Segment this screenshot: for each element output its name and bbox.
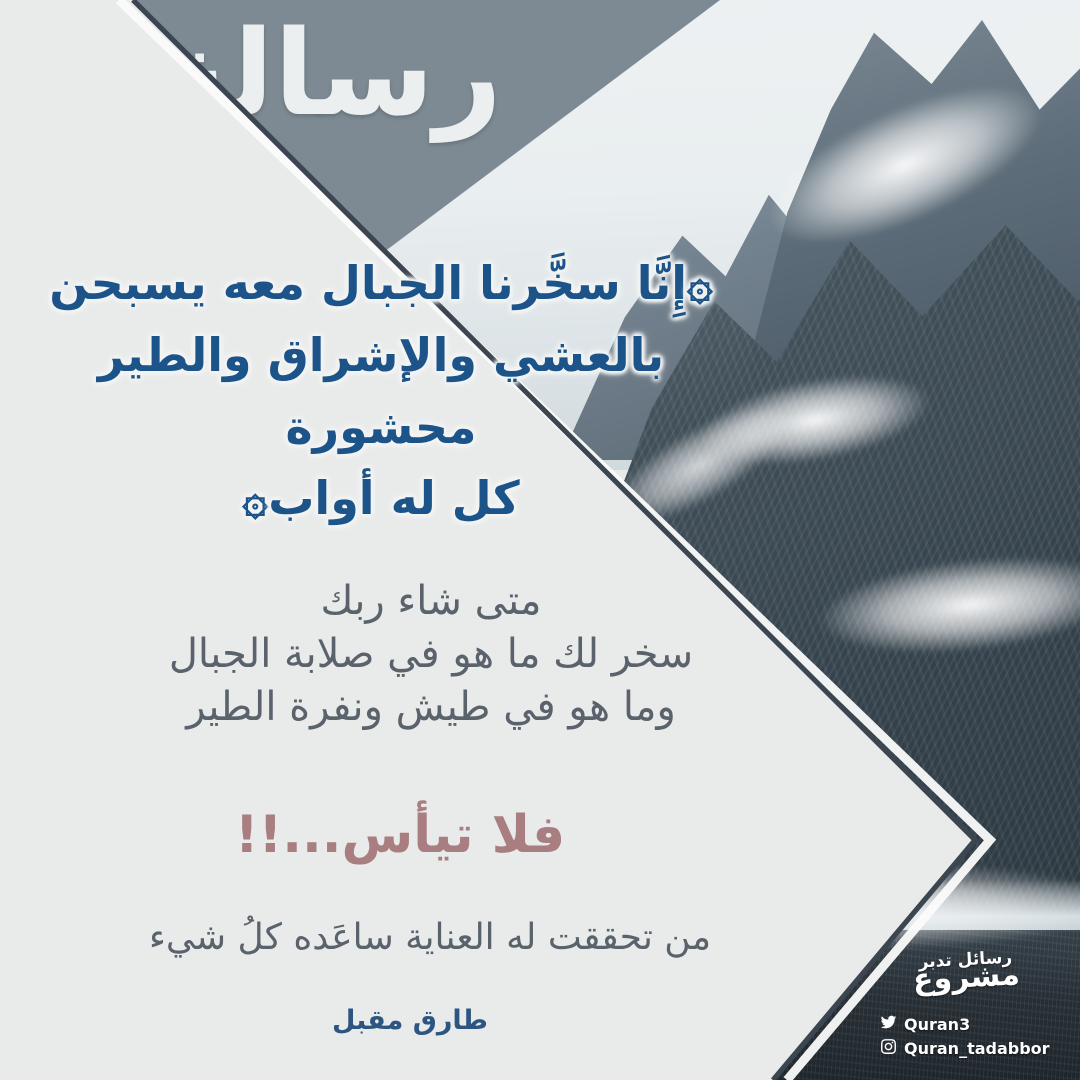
- instagram-icon: [880, 1038, 897, 1059]
- verse-line-3: كل له أواب: [268, 471, 519, 525]
- commentary-text: متى شاء ربك سخر لك ما هو في صلابة الجبال…: [0, 575, 862, 733]
- verse-ornament-open-icon: ۞: [687, 259, 713, 310]
- twitter-icon: [880, 1014, 897, 1035]
- twitter-handle-label: Quran3: [904, 1015, 970, 1034]
- instagram-handle-row[interactable]: Quran_tadabbor: [880, 1038, 1050, 1059]
- watermark-block: رسائل تدبر مشروع Quran3 Quran_tadabbor: [860, 952, 1080, 1080]
- content-layer: ۞إِنَّا سخَّرنا الجبال معه يسبحن بالعشي …: [0, 0, 1080, 1080]
- instagram-handle-label: Quran_tadabbor: [904, 1039, 1050, 1058]
- commentary-line-1: متى شاء ربك: [20, 575, 842, 628]
- brand-calligraphy-main: مشروع: [912, 957, 1021, 998]
- brand-calligraphy: رسائل تدبر مشروع: [865, 947, 1067, 998]
- verse-line-2: بالعشي والإشراق والطير محشورة: [98, 328, 664, 454]
- closing-statement: من تحققت له العناية ساعَده كلُ شيء: [0, 915, 860, 962]
- twitter-handle-row[interactable]: Quran3: [880, 1014, 970, 1035]
- verse-line-1: إِنَّا سخَّرنا الجبال معه يسبحن: [49, 256, 687, 310]
- verse-ornament-close-icon: ۞: [242, 474, 268, 525]
- quran-verse: ۞إِنَّا سخَّرنا الجبال معه يسبحن بالعشي …: [0, 248, 762, 535]
- poster-canvas: رسالة ۞إِنَّا سخَّرنا الجبال معه يسبحن ب…: [0, 0, 1080, 1080]
- commentary-line-2: سخر لك ما هو في صلابة الجبال: [20, 628, 842, 681]
- emphasis-phrase: فلا تيأس...!!: [0, 805, 800, 865]
- commentary-line-3: وما هو في طيش ونفرة الطير: [20, 681, 842, 734]
- author-attribution: طارق مقبل: [0, 1005, 820, 1036]
